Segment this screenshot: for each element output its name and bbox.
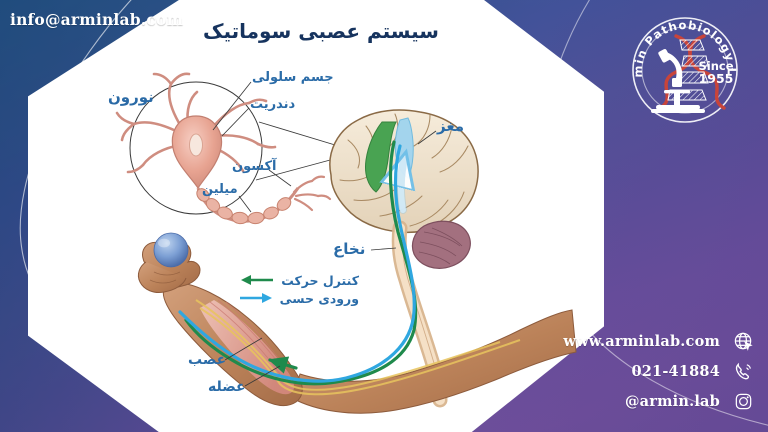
arrow-right-blue-icon bbox=[238, 292, 274, 304]
instagram-text: @armin.lab bbox=[625, 393, 720, 410]
contact-row-phone[interactable]: 021-41884 bbox=[542, 356, 754, 386]
label-cell-body: جسم سلولی bbox=[252, 70, 334, 85]
email-text: info@arminlab.com bbox=[10, 10, 183, 29]
label-muscle: عضله bbox=[208, 379, 246, 395]
label-dendrite: دندریت bbox=[250, 97, 295, 112]
page-title: سیستم عصبی سوماتیک bbox=[196, 19, 446, 43]
poster-canvas: info@arminlab.com سیستم عصبی سوماتیک نور… bbox=[0, 0, 768, 432]
legend-label-sensory-input: ورودی حسی bbox=[280, 291, 359, 306]
label-myelin: میلین bbox=[202, 182, 238, 197]
label-axon: آکسون bbox=[232, 159, 277, 174]
contact-block: www.arminlab.com 021-41884 bbox=[542, 326, 754, 416]
legend: کنترل حرکت ورودی حسی bbox=[249, 271, 359, 307]
label-spinal-cord: نخاع bbox=[333, 240, 365, 258]
phone-text: 021-41884 bbox=[631, 363, 720, 380]
content-card bbox=[28, 0, 604, 432]
company-logo: Armin Pathobiology Lab Since 1955 bbox=[620, 4, 750, 134]
contact-row-website[interactable]: www.arminlab.com bbox=[542, 326, 754, 356]
legend-item-motor-control: کنترل حرکت bbox=[249, 271, 359, 289]
arrow-left-green-icon bbox=[239, 274, 275, 286]
legend-label-motor-control: کنترل حرکت bbox=[281, 273, 359, 288]
label-neuron: نورون bbox=[108, 88, 154, 106]
phone-ring-icon[interactable] bbox=[732, 360, 754, 382]
website-text: www.arminlab.com bbox=[563, 333, 720, 350]
legend-item-sensory-input: ورودی حسی bbox=[249, 289, 359, 307]
label-brain: مغز bbox=[437, 117, 464, 135]
contact-row-instagram[interactable]: @armin.lab bbox=[542, 386, 754, 416]
logo-since-year: 1955 bbox=[699, 71, 734, 86]
globe-cursor-icon[interactable] bbox=[732, 330, 754, 352]
label-nerve: عصب bbox=[188, 352, 226, 368]
instagram-icon[interactable] bbox=[732, 390, 754, 412]
